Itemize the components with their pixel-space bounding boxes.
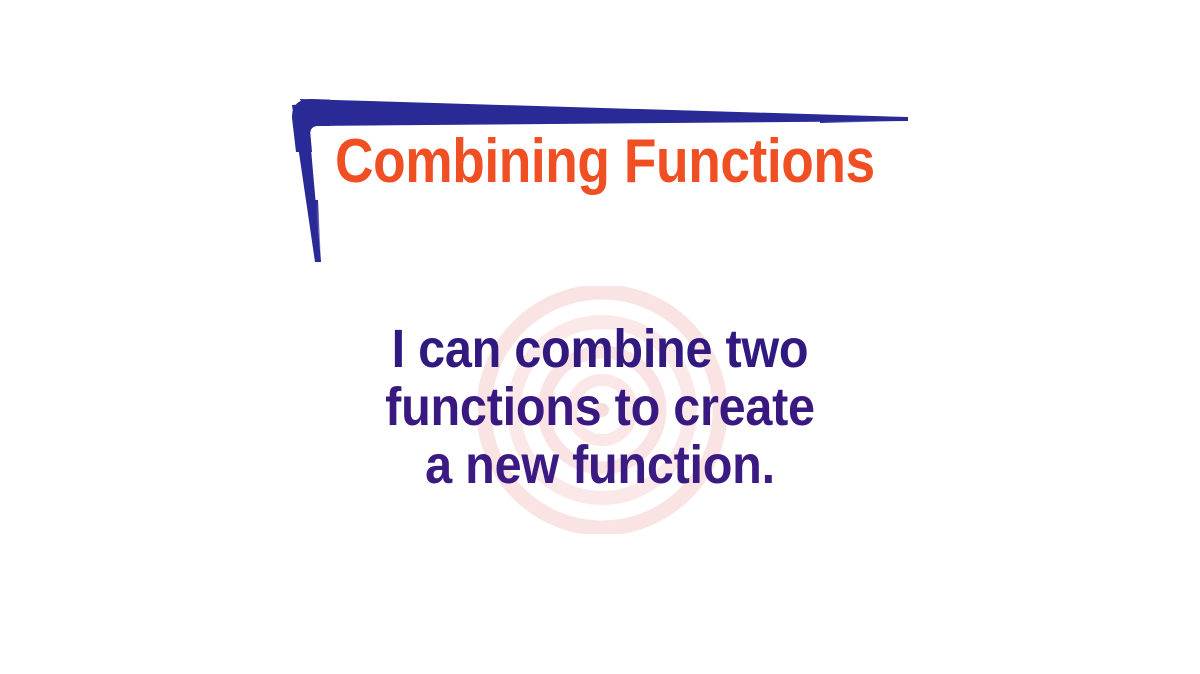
statement-line: I can combine two [330,320,870,378]
page-title: Combining Functions [335,127,817,197]
title-block: Combining Functions [335,127,895,199]
statement-line: functions to create [330,378,870,436]
statement-line: a new function. [330,436,870,494]
slide-canvas: Combining Functions I can combine two fu… [0,0,1200,674]
statement-block: I can combine two functions to create a … [300,320,900,494]
